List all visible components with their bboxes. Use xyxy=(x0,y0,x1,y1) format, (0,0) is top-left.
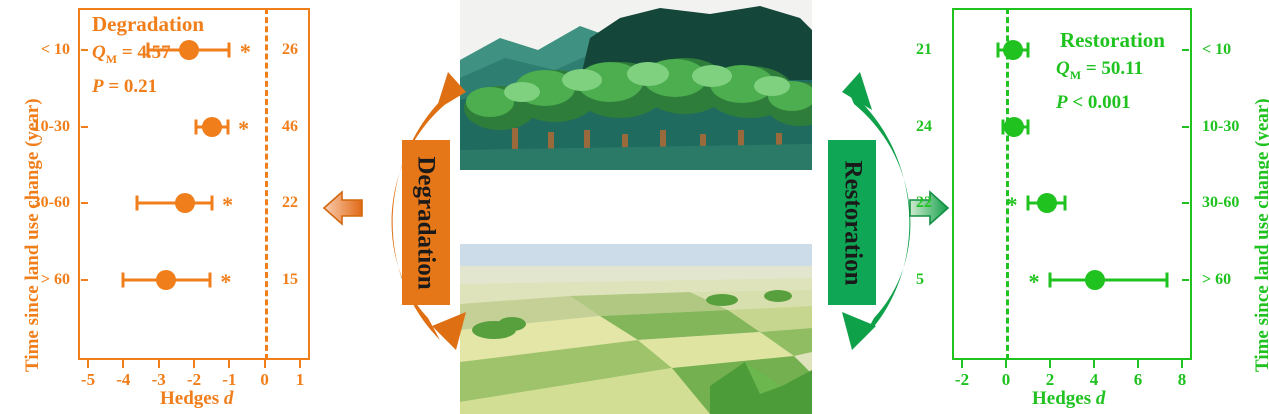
category-label: 30-60 xyxy=(1202,194,1239,212)
x-tick xyxy=(228,360,230,368)
confidence-interval-bar xyxy=(1050,278,1167,281)
x-tick-label: 8 xyxy=(1178,370,1187,390)
sample-size-label: 22 xyxy=(282,194,298,212)
effect-size-marker xyxy=(1003,40,1023,60)
x-tick-label: 0 xyxy=(1002,370,1011,390)
x-tick xyxy=(1005,360,1007,368)
x-tick xyxy=(961,360,963,368)
significance-star: * xyxy=(238,118,249,140)
significance-star: * xyxy=(240,41,251,63)
error-bar-cap xyxy=(136,196,139,211)
left-p-stat: P = 0.21 xyxy=(92,76,157,98)
category-label: < 10 xyxy=(41,41,70,59)
x-tick-label: -5 xyxy=(81,370,95,390)
y-tick xyxy=(1182,126,1189,128)
x-tick-label: 0 xyxy=(260,370,269,390)
restoration-forest-plot: Restoration QM = 50.11 P < 0.001 -202468… xyxy=(952,0,1269,414)
error-bar-cap xyxy=(1027,196,1030,211)
y-tick xyxy=(81,202,88,204)
effect-size-marker xyxy=(175,193,195,213)
degradation-small-arrow xyxy=(324,192,362,224)
x-tick-label: 1 xyxy=(296,370,305,390)
degradation-ribbon: Degradation xyxy=(402,140,450,305)
x-tick xyxy=(122,360,124,368)
x-tick xyxy=(1049,360,1051,368)
restoration-cycle-arrow xyxy=(652,0,952,414)
y-tick xyxy=(1182,49,1189,51)
significance-star: * xyxy=(1007,194,1018,216)
right-y-axis-title: Time since land use change (year) xyxy=(1252,98,1269,372)
right-x-axis-title: Hedges d xyxy=(1032,388,1105,410)
y-tick xyxy=(81,126,88,128)
effect-size-marker xyxy=(1037,193,1057,213)
degradation-forest-plot: Time since land use change (year) Degrad… xyxy=(0,0,320,414)
significance-star: * xyxy=(222,194,233,216)
error-bar-cap xyxy=(997,43,1000,58)
sample-size-label: 24 xyxy=(916,118,932,136)
right-p-stat: P < 0.001 xyxy=(1056,92,1131,114)
category-label: > 60 xyxy=(41,271,70,289)
x-tick xyxy=(158,360,160,368)
degradation-cycle-arrow xyxy=(320,0,620,414)
x-tick xyxy=(1093,360,1095,368)
error-bar-cap xyxy=(228,43,231,58)
right-qm-stat: QM = 50.11 xyxy=(1056,58,1143,83)
y-tick xyxy=(1182,279,1189,281)
left-y-axis-title: Time since land use change (year) xyxy=(22,98,44,372)
sample-size-label: 15 xyxy=(282,271,298,289)
significance-star: * xyxy=(220,271,231,293)
category-label: 10-30 xyxy=(33,118,70,136)
category-label: 10-30 xyxy=(1202,118,1239,136)
right-heading: Restoration xyxy=(1060,28,1165,53)
x-tick xyxy=(193,360,195,368)
x-tick xyxy=(87,360,89,368)
sample-size-label: 26 xyxy=(282,41,298,59)
error-bar-cap xyxy=(1027,43,1030,58)
error-bar-cap xyxy=(210,196,213,211)
sample-size-label: 21 xyxy=(916,41,932,59)
y-tick xyxy=(81,49,88,51)
category-label: 30-60 xyxy=(33,194,70,212)
error-bar-cap xyxy=(208,272,211,287)
category-label: > 60 xyxy=(1202,271,1231,289)
sample-size-label: 46 xyxy=(282,118,298,136)
effect-size-marker xyxy=(179,40,199,60)
x-tick-label: -2 xyxy=(187,370,201,390)
x-tick xyxy=(1137,360,1139,368)
effect-size-marker xyxy=(202,117,222,137)
restoration-ribbon: Restoration xyxy=(828,140,876,305)
x-tick-label: 2 xyxy=(1046,370,1055,390)
category-label: < 10 xyxy=(1202,41,1231,59)
y-tick xyxy=(1182,202,1189,204)
significance-star: * xyxy=(1029,271,1040,293)
x-tick xyxy=(1181,360,1183,368)
x-tick-label: 6 xyxy=(1134,370,1143,390)
zero-reference-line xyxy=(1006,8,1009,360)
zero-reference-line xyxy=(265,8,268,360)
left-qm-stat: QM = 4.57 xyxy=(92,42,171,67)
error-bar-cap xyxy=(1027,119,1030,134)
effect-size-marker xyxy=(1004,117,1024,137)
error-bar-cap xyxy=(226,119,229,134)
x-tick-label: -2 xyxy=(955,370,969,390)
middle-illustration-panel: Degradation Restoration xyxy=(320,0,952,414)
x-tick-label: -4 xyxy=(116,370,130,390)
left-heading: Degradation xyxy=(92,12,204,37)
x-tick-label: -1 xyxy=(222,370,236,390)
y-tick xyxy=(81,279,88,281)
effect-size-marker xyxy=(1085,270,1105,290)
x-tick xyxy=(264,360,266,368)
error-bar-cap xyxy=(147,43,150,58)
error-bar-cap xyxy=(122,272,125,287)
error-bar-cap xyxy=(194,119,197,134)
effect-size-marker xyxy=(156,270,176,290)
error-bar-cap xyxy=(1165,272,1168,287)
x-tick-label: 4 xyxy=(1090,370,1099,390)
left-x-axis-title: Hedges d xyxy=(160,388,233,410)
x-tick xyxy=(299,360,301,368)
x-tick-label: -3 xyxy=(152,370,166,390)
sample-size-label: 5 xyxy=(916,271,924,289)
error-bar-cap xyxy=(1049,272,1052,287)
error-bar-cap xyxy=(1064,196,1067,211)
sample-size-label: 22 xyxy=(916,194,932,212)
